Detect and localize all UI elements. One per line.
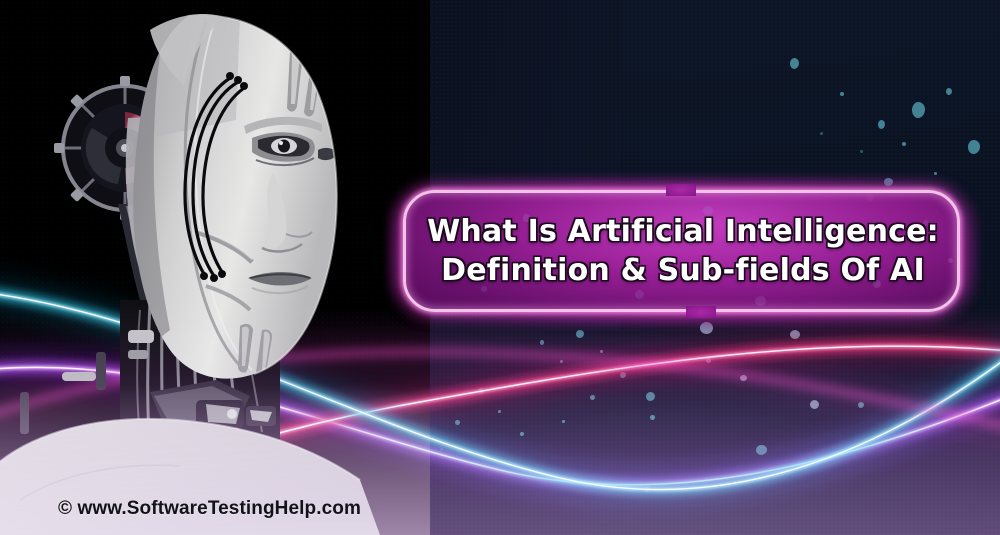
title-line-1: What Is Artificial Intelligence: [427,214,939,251]
banner-title: What Is Artificial Intelligence: Definit… [388,178,978,326]
watermark: © www.SoftwareTestingHelp.com [58,498,361,520]
robot-head-shell [128,15,338,378]
title-banner: What Is Artificial Intelligence: Definit… [388,178,978,326]
title-line-2: Definition & Sub-fields Of AI [441,253,925,290]
hero-banner-image: What Is Artificial Intelligence: Definit… [0,0,1000,535]
